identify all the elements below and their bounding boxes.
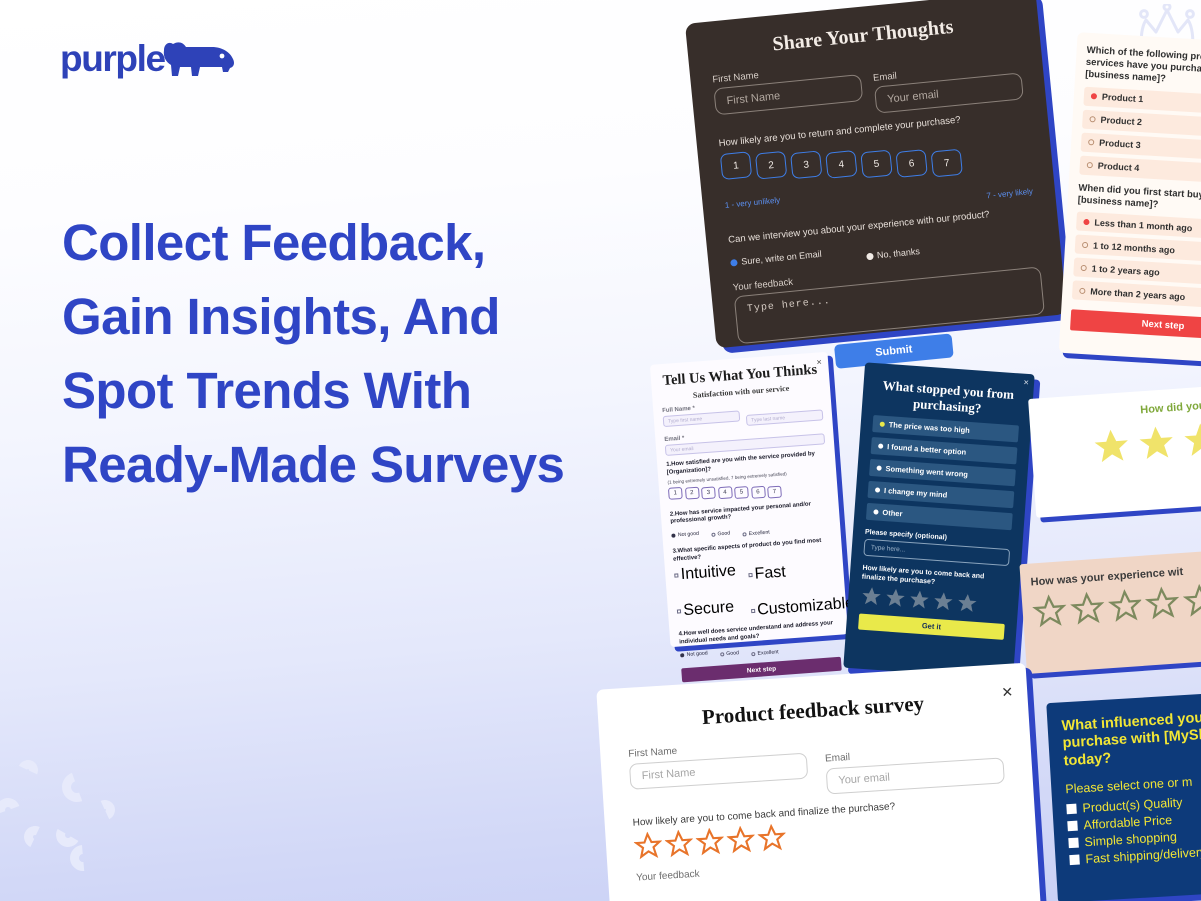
card-body: What influenced your purchase with [MySh… [1046,691,1201,901]
card-body: How did your s [1028,385,1201,518]
product-option-2-label: Product 2 [1100,115,1142,127]
tenure-option-4[interactable]: More than 2 years ago [1072,281,1201,311]
star-icon[interactable] [726,825,756,855]
get-it-button[interactable]: Get it [858,613,1005,639]
card-body: ✕ What stopped you from purchasing? The … [843,362,1034,679]
radio-icon [1091,93,1097,99]
radio-icon [742,532,746,536]
interview-option-no-label: No, thanks [876,246,920,260]
radio-icon [876,465,881,470]
radio-icon [873,509,878,514]
influenced-option-4-label: Fast shipping/delivery [1085,845,1201,866]
star-icon[interactable] [932,589,956,613]
star-icon[interactable] [695,827,725,857]
scale-option-4[interactable]: 4 [825,150,857,179]
star-icon[interactable] [1090,425,1133,468]
headline-line-4: Ready-Made Surveys [62,428,652,502]
star-icon[interactable] [1180,419,1201,462]
product-option-3-label: Product 3 [1099,138,1141,150]
tenure-option-1-label: Less than 1 month ago [1094,217,1192,233]
star-icon[interactable] [1135,422,1178,465]
q2-option-1-label: Not good [678,531,699,539]
product-option-1-label: Product 1 [1102,92,1144,104]
arc-shape [57,767,97,807]
product-option-4[interactable]: Product 4 [1079,155,1201,185]
stopped-option-3-label: Something went wrong [885,464,968,479]
star-icon[interactable] [633,831,663,861]
brand-logo-text: purple [60,40,165,77]
influenced-subtitle: Please select one or m [1065,772,1201,796]
card-body: ✕ Product feedback survey First Name Fir… [596,663,1041,901]
arc-shape [15,757,41,783]
card-body: Which of the following product or servic… [1059,32,1201,365]
q4-option-2-label: Good [726,651,739,658]
radio-icon [730,258,738,266]
arc-shape [21,823,49,851]
checkbox-icon [751,609,755,613]
stopped-option-5-label: Other [882,507,903,517]
how-did-question: How did your s [1039,399,1201,424]
products-question: Which of the following product or servic… [1085,45,1201,92]
q1-scale-4[interactable]: 4 [717,486,732,499]
star-icon[interactable] [757,823,787,853]
card-title: What influenced your purchase with [MySh… [1061,708,1201,771]
page-title: Collect Feedback, Gain Insights, And Spo… [62,206,652,502]
radio-icon [1083,219,1089,225]
q2-option-3[interactable]: Excellent [742,530,770,538]
q2-option-2-label: Good [717,531,730,538]
product-option-4-label: Product 4 [1098,161,1140,173]
radio-icon [720,653,724,657]
close-icon[interactable]: ✕ [1023,379,1029,387]
first-name-input[interactable]: First Name [629,753,808,790]
q4-option-3-label: Excellent [757,650,778,658]
close-icon[interactable]: ✕ [1001,684,1014,702]
scale-option-6[interactable]: 6 [895,149,927,178]
influenced-option-3-label: Simple shopping [1084,830,1177,849]
scale-option-3[interactable]: 3 [790,150,822,179]
q4-option-1-label: Not good [687,651,708,659]
star-icon[interactable] [884,586,908,610]
tenure-option-2-label: 1 to 12 months ago [1093,240,1175,255]
stopped-option-4-label: I change my mind [884,486,948,500]
headline-line-2: Gain Insights, And [62,280,652,354]
what-influenced-card: What influenced your purchase with [MySh… [1046,691,1201,901]
q1-scale-2[interactable]: 2 [684,486,699,499]
star-icon[interactable] [664,829,694,859]
interview-option-email[interactable]: Sure, write on Email [729,242,822,275]
arc-shape [0,794,24,826]
how-was-experience-card: How was your experience wit [1019,550,1201,674]
checkbox-icon [748,573,752,577]
headline-line-1: Collect Feedback, [62,206,652,280]
star-icon[interactable] [955,591,979,615]
star-rating[interactable] [1032,583,1201,630]
stopped-option-5[interactable]: Other [866,502,1013,529]
radio-icon [880,421,885,426]
tenure-option-3-label: 1 to 2 years ago [1091,263,1160,277]
card-body: ✕ Tell Us What You Thinks Satisfaction w… [650,352,848,647]
radio-icon [1079,288,1085,294]
star-icon[interactable] [1182,583,1201,619]
scale-option-7[interactable]: 7 [931,149,963,178]
hero-banner: purple Collect Feedback, Gain Insights, … [0,0,1201,901]
radio-icon [866,252,874,260]
card-title: What stopped you from purchasing? [874,377,1022,420]
star-rating[interactable] [1040,419,1201,471]
star-icon[interactable] [1069,591,1105,627]
q4-option-2[interactable]: Good [720,649,740,660]
q3-option-fast[interactable]: Fast [748,558,852,584]
star-icon[interactable] [1107,588,1143,624]
q1-scale-6[interactable]: 6 [751,485,766,498]
close-icon[interactable]: ✕ [816,358,822,366]
bear-icon [156,36,238,82]
start-buying-question: When did you first start buying from [bu… [1077,182,1201,217]
q1-scale-7[interactable]: 7 [767,485,782,498]
checkbox-icon [1067,821,1078,832]
q3-option-secure-label: Secure [683,598,735,620]
stopped-option-2-label: I found a better option [887,442,967,457]
q3-option-intuitive-label: Intuitive [680,562,736,584]
q4-option-3[interactable]: Excellent [751,650,779,658]
tell-us-card: ✕ Tell Us What You Thinks Satisfaction w… [650,352,848,647]
checkbox-icon [677,609,681,613]
card-title: Product feedback survey [626,686,1001,734]
checkbox-icon [1069,855,1080,866]
q2-option-3-label: Excellent [749,530,770,538]
q3-option-secure[interactable]: Secure [676,598,739,620]
star-icon[interactable] [1145,585,1181,621]
star-icon[interactable] [1032,593,1068,629]
email-input[interactable]: Your email [826,757,1005,794]
headline-line-3: Spot Trends With [62,354,652,428]
last-name-input[interactable]: Type last name [746,409,824,426]
q3-option-fast-label: Fast [754,563,786,583]
influenced-option-2-label: Affordable Price [1083,813,1172,832]
product-feedback-card: ✕ Product feedback survey First Name Fir… [596,663,1041,901]
interview-option-no[interactable]: No, thanks [866,246,921,261]
radio-icon [875,487,880,492]
checkbox-icon [674,573,678,577]
q1-scale-3[interactable]: 3 [701,486,716,499]
radio-icon [711,533,715,537]
next-step-button[interactable]: Next step [1070,310,1201,342]
q1-scale-1[interactable]: 1 [668,486,683,499]
radio-icon [878,443,883,448]
radio-icon [1088,139,1094,145]
brand-logo[interactable]: purple [60,40,165,77]
q3-option-customizable-label: Customizable [757,594,855,619]
radio-icon [1082,242,1088,248]
star-icon[interactable] [908,588,932,612]
radio-icon [1087,162,1093,168]
q4-option-1[interactable]: Not good [680,647,709,663]
radio-icon [1089,116,1095,122]
q2-option-2[interactable]: Good [711,529,731,540]
arc-shape [92,797,118,823]
product-purchase-card: Which of the following product or servic… [1059,32,1201,365]
share-thoughts-card: Share Your Thoughts First Name First Nam… [685,0,1067,348]
radio-icon [671,534,675,538]
q2-option-1[interactable]: Not good [671,527,700,543]
card-body: Share Your Thoughts First Name First Nam… [685,0,1067,348]
checkbox-icon [1066,804,1077,815]
tenure-option-4-label: More than 2 years ago [1090,286,1185,302]
checkbox-icon [1068,838,1079,849]
scale-high-label: 7 - very likely [986,187,1033,201]
scale-low-label: 1 - very unlikely [724,196,782,226]
q3-option-intuitive[interactable]: Intuitive [674,562,737,584]
scale-option-5[interactable]: 5 [860,150,892,179]
q3-option-customizable[interactable]: Customizable [750,594,854,620]
q1-scale-5[interactable]: 5 [734,486,749,499]
scale-option-2[interactable]: 2 [755,151,787,180]
card-body: How was your experience wit [1019,550,1201,674]
what-stopped-you-card: ✕ What stopped you from purchasing? The … [843,362,1034,679]
stopped-option-1-label: The price was too high [888,420,970,435]
how-did-card: How did your s [1028,385,1201,518]
star-icon[interactable] [860,584,884,608]
interview-option-email-label: Sure, write on Email [741,249,822,267]
scale-option-1[interactable]: 1 [720,151,752,180]
radio-icon [1081,265,1087,271]
radio-icon [751,652,755,656]
radio-icon [680,654,684,658]
